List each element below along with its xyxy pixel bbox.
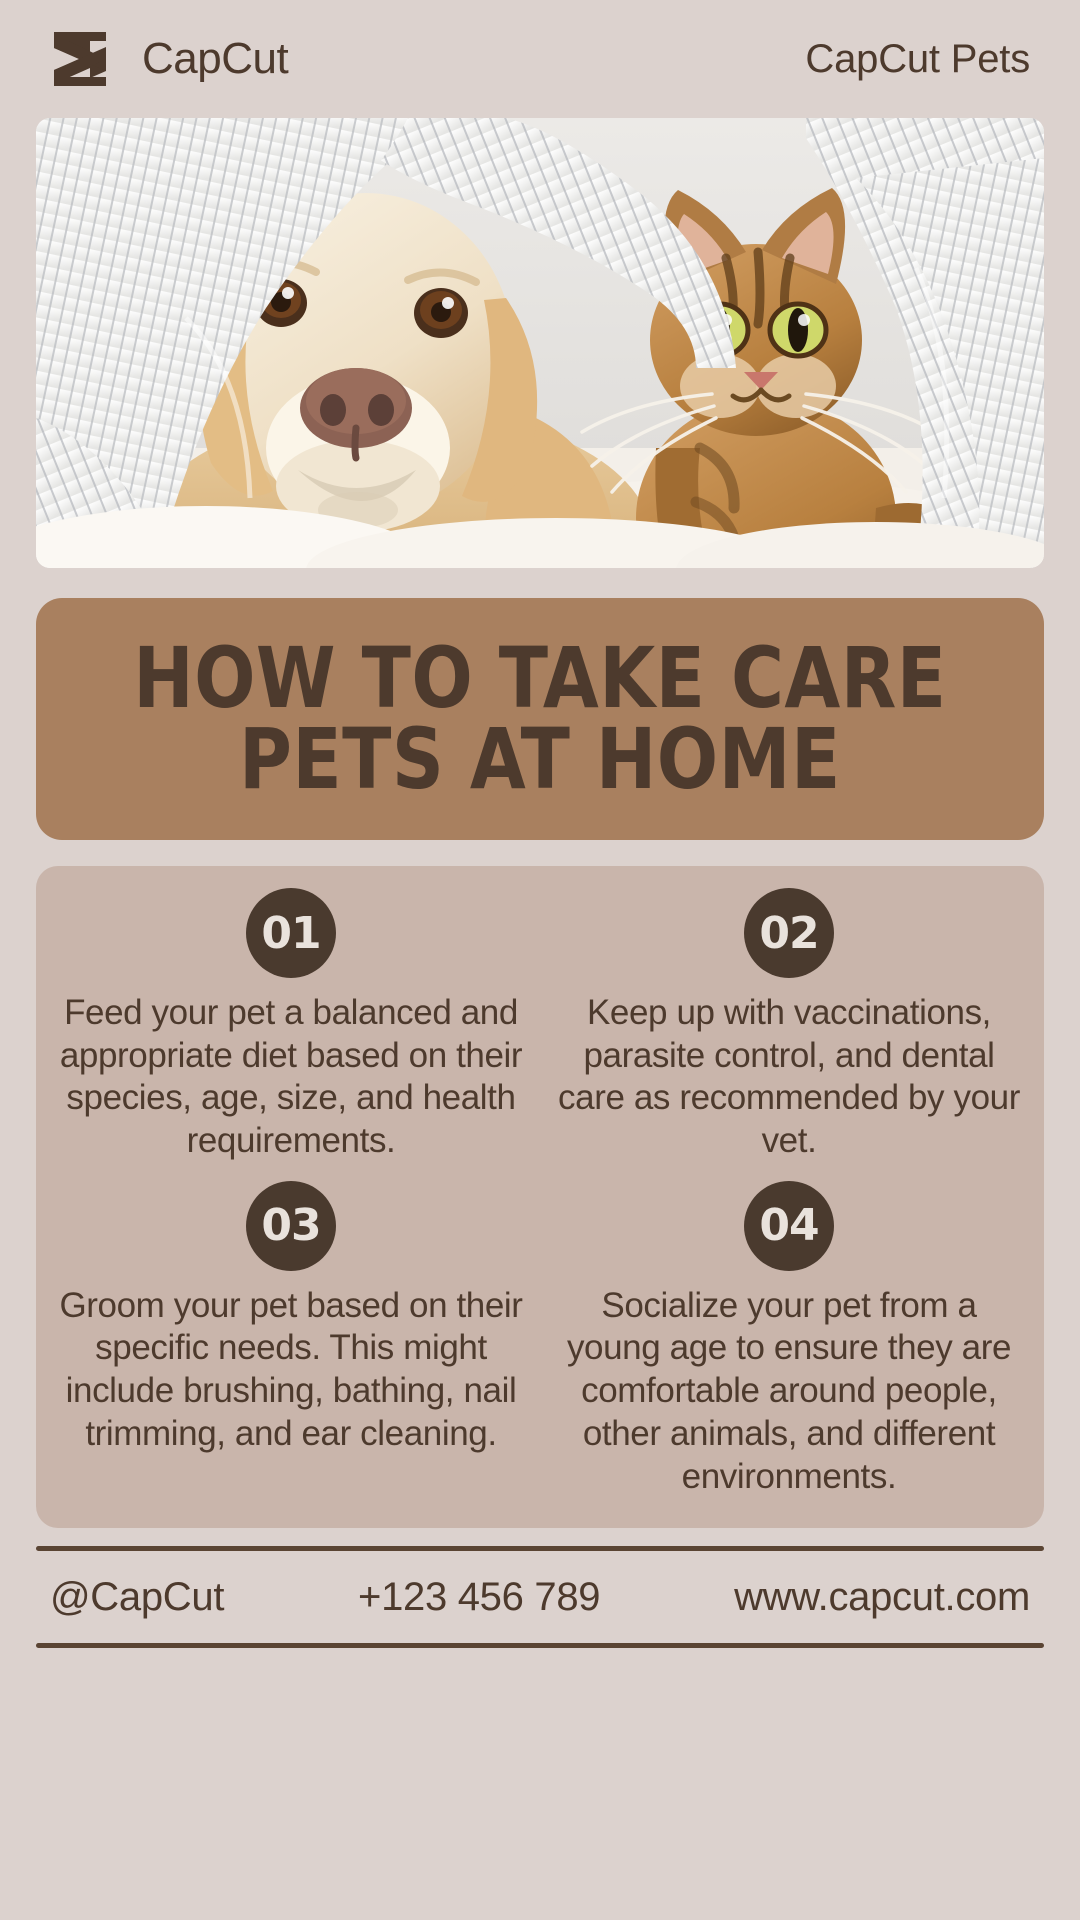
capcut-logo-icon <box>50 28 122 90</box>
footer-phone-number[interactable]: +123 456 789 <box>358 1575 600 1620</box>
hero-photo <box>36 118 1044 568</box>
tips-panel: 01 Feed your pet a balanced and appropri… <box>36 866 1044 1528</box>
tip-description: Feed your pet a balanced and appropriate… <box>54 992 528 1163</box>
page-title-line-1: HOW TO TAKE CARE <box>133 638 946 719</box>
tip-item-02: 02 Keep up with vaccinations, parasite c… <box>540 888 1038 1163</box>
tip-item-03: 03 Groom your pet based on their specifi… <box>42 1181 540 1498</box>
footer-contact-row: @CapCut +123 456 789 www.capcut.com <box>36 1551 1044 1643</box>
page-header: CapCut CapCut Pets <box>36 0 1044 118</box>
page-title-line-2: PETS AT HOME <box>239 719 841 800</box>
tip-number-badge: 04 <box>744 1181 834 1271</box>
brand-lockup: CapCut <box>50 28 288 90</box>
page-footer: @CapCut +123 456 789 www.capcut.com <box>36 1546 1044 1674</box>
tip-description: Groom your pet based on their specific n… <box>54 1285 528 1456</box>
tip-description: Keep up with vaccinations, parasite cont… <box>552 992 1026 1163</box>
header-category-label: CapCut Pets <box>805 37 1030 82</box>
tip-number-badge: 01 <box>246 888 336 978</box>
footer-website-url[interactable]: www.capcut.com <box>734 1575 1030 1620</box>
footer-social-handle[interactable]: @CapCut <box>50 1575 224 1620</box>
title-banner: HOW TO TAKE CARE PETS AT HOME <box>36 598 1044 840</box>
tip-number-badge: 03 <box>246 1181 336 1271</box>
tip-item-04: 04 Socialize your pet from a young age t… <box>540 1181 1038 1498</box>
tip-description: Socialize your pet from a young age to e… <box>552 1285 1026 1498</box>
tip-item-01: 01 Feed your pet a balanced and appropri… <box>42 888 540 1163</box>
footer-spacer <box>36 1648 1044 1674</box>
brand-name: CapCut <box>142 34 288 84</box>
pets-photo-illustration <box>36 118 1044 568</box>
tip-number-badge: 02 <box>744 888 834 978</box>
infographic-poster: CapCut CapCut Pets <box>0 0 1080 1920</box>
